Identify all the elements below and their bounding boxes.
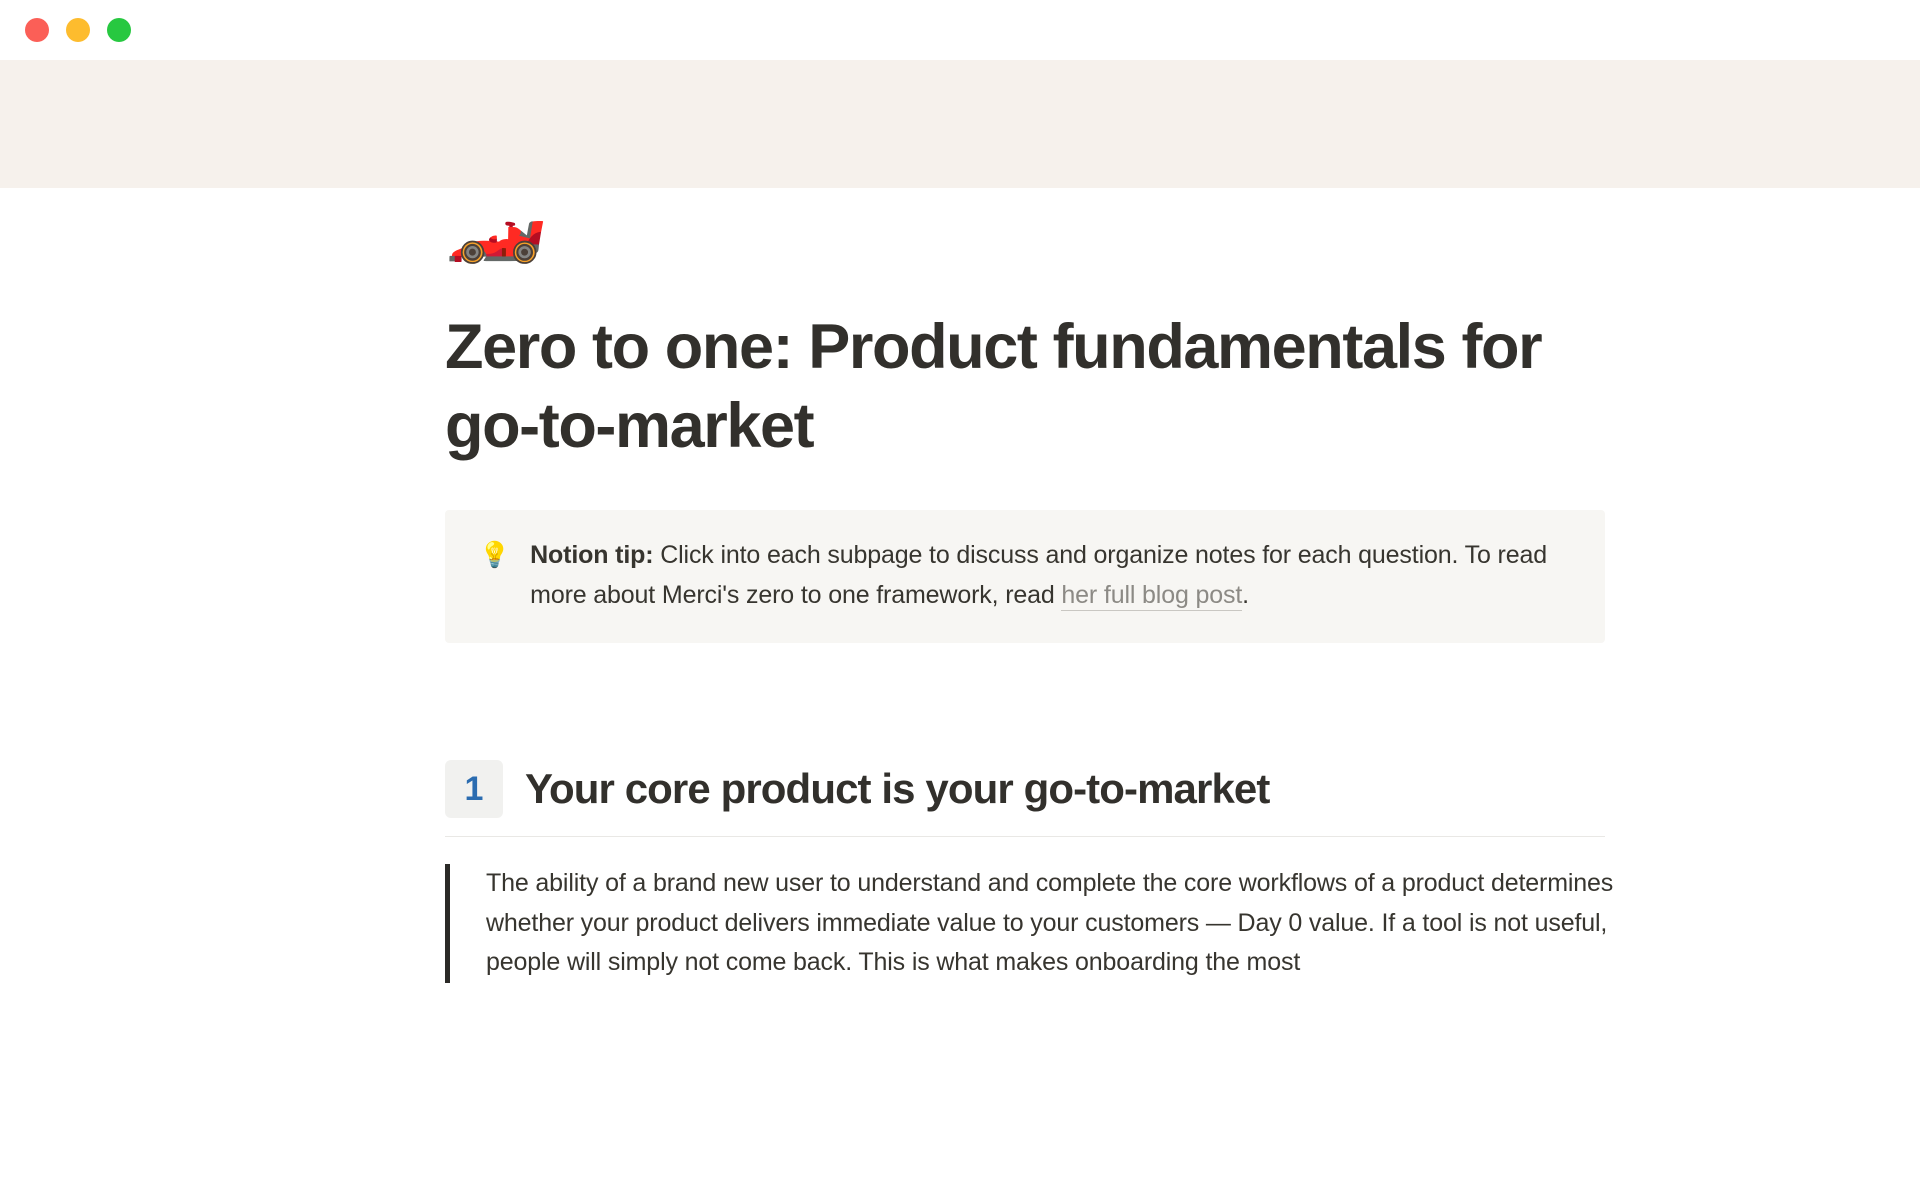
blog-post-link[interactable]: her full blog post [1061,581,1242,611]
quote-text: The ability of a brand new user to under… [486,864,1615,983]
minimize-window-button[interactable] [66,18,90,42]
page-title[interactable]: Zero to one: Product fundamentals for go… [445,308,1615,467]
page-cover-image[interactable] [0,60,1920,188]
callout-body-after: . [1242,581,1249,609]
callout-lead-label: Notion tip: [530,541,653,569]
maximize-window-button[interactable] [107,18,131,42]
notion-tip-callout[interactable]: 💡 Notion tip: Click into each subpage to… [445,510,1605,643]
quote-block[interactable]: The ability of a brand new user to under… [445,864,1615,983]
section-number-badge: 1 [445,760,503,818]
callout-body-before: Click into each subpage to discuss and o… [530,541,1547,609]
page-body: 🏎️ Zero to one: Product fundamentals for… [0,188,1920,1200]
section-title[interactable]: Your core product is your go-to-market [525,764,1269,814]
callout-text: Notion tip: Click into each subpage to d… [530,536,1571,615]
close-window-button[interactable] [25,18,49,42]
window-titlebar [0,0,1920,60]
section-divider [445,836,1605,837]
lightbulb-icon: 💡 [479,536,510,575]
race-car-icon[interactable]: 🏎️ [445,180,575,260]
section-heading-1[interactable]: 1 Your core product is your go-to-market [445,760,1615,818]
